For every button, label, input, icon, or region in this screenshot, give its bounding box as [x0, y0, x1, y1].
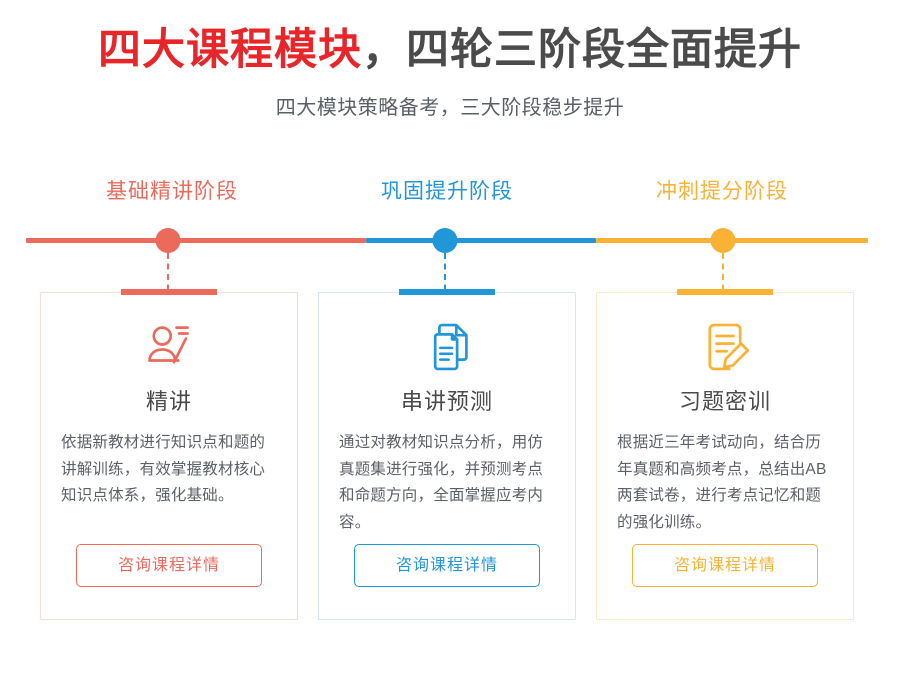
consult-course-button-2[interactable]: 咨询课程详情: [354, 544, 540, 587]
stage-label-3: 冲刺提分阶段: [656, 175, 788, 205]
lecturer-icon: [142, 320, 196, 374]
stage-dot-3[interactable]: [711, 228, 736, 253]
stage-label-2: 巩固提升阶段: [381, 175, 513, 205]
card-top-bar: [677, 289, 773, 295]
card-description: 根据近三年考试动向，结合历年真题和高频考点，总结出AB两套试卷，进行考点记忆和题…: [617, 430, 833, 537]
card-title: 串讲预测: [319, 384, 575, 416]
module-card-3: 习题密训 根据近三年考试动向，结合历年真题和高频考点，总结出AB两套试卷，进行考…: [596, 292, 854, 620]
header: 四大课程模块，四轮三阶段全面提升 四大模块策略备考，三大阶段稳步提升: [0, 26, 900, 120]
consult-course-button-1[interactable]: 咨询课程详情: [76, 544, 262, 587]
module-cards: 精讲 依据新教材进行知识点和题的讲解训练，有效掌握教材核心知识点体系，强化基础。…: [0, 292, 900, 632]
timeline-segment-1: [26, 238, 366, 243]
consult-course-button-3[interactable]: 咨询课程详情: [632, 544, 818, 587]
module-card-2: 串讲预测 通过对教材知识点分析，用仿真题集进行强化，并预测考点和命题方向，全面掌…: [318, 292, 576, 620]
stage-label-1: 基础精讲阶段: [106, 175, 238, 205]
timeline-segment-2: [366, 238, 596, 243]
card-title: 精讲: [41, 384, 297, 416]
page-subtitle: 四大模块策略备考，三大阶段稳步提升: [0, 91, 900, 120]
course-modules-infographic: 四大课程模块，四轮三阶段全面提升 四大模块策略备考，三大阶段稳步提升 基础精讲阶…: [0, 0, 900, 676]
stage-dot-2[interactable]: [433, 228, 458, 253]
page-title-accent: 四大课程模块: [98, 26, 362, 74]
stage-timeline: 基础精讲阶段 巩固提升阶段 冲刺提分阶段: [0, 175, 900, 300]
document-pencil-icon: [698, 320, 752, 374]
module-card-1: 精讲 依据新教材进行知识点和题的讲解训练，有效掌握教材核心知识点体系，强化基础。…: [40, 292, 298, 620]
card-top-bar: [121, 289, 217, 295]
card-description: 通过对教材知识点分析，用仿真题集进行强化，并预测考点和命题方向，全面掌握应考内容…: [339, 430, 555, 537]
page-title-rest: ，四轮三阶段全面提升: [362, 26, 802, 74]
card-top-bar: [399, 289, 495, 295]
card-title: 习题密训: [597, 384, 853, 416]
documents-icon: [420, 320, 474, 374]
page-title: 四大课程模块，四轮三阶段全面提升: [0, 26, 900, 74]
card-description: 依据新教材进行知识点和题的讲解训练，有效掌握教材核心知识点体系，强化基础。: [61, 430, 277, 510]
stage-dot-1[interactable]: [156, 228, 181, 253]
